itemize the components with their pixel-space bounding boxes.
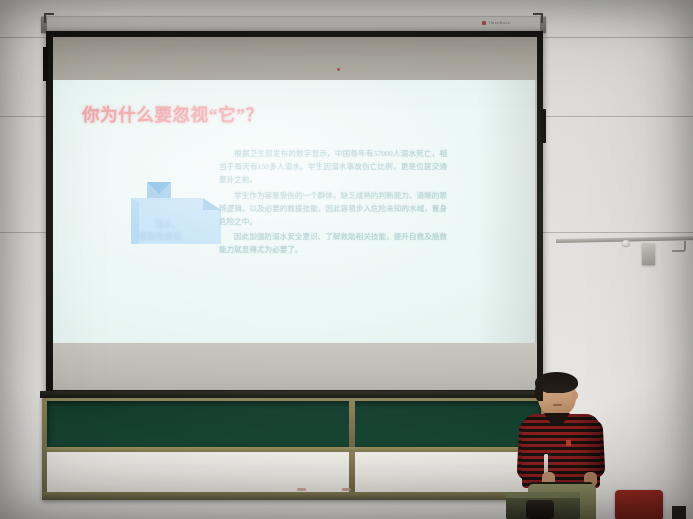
screen-mount-bracket-right xyxy=(533,13,543,23)
chalkboard-surface xyxy=(47,401,541,447)
brand-name-label: ThreeBoss xyxy=(488,20,510,25)
ribbon-line-2: 就在你身边 xyxy=(139,230,219,242)
wall-mount-bracket xyxy=(642,243,655,265)
presenter-eyebrow-left xyxy=(545,388,552,390)
shirt-logo-icon xyxy=(566,440,571,446)
slide-paragraph-3: 因此加强防溺水安全意识、了解救助相关技能，提升自救及施救能力就显得尤为必要了。 xyxy=(219,230,447,256)
slide-paragraph-2: 学生作为容易受伤的一个群体，缺乏成熟的判断能力、清晰的思辨逻辑，以及必要的救援技… xyxy=(219,189,447,229)
chalkboard xyxy=(42,396,546,500)
chalk-piece xyxy=(297,488,306,491)
brand-dot-icon xyxy=(482,21,486,25)
presenter-eyebrow-right xyxy=(559,388,566,390)
wall-hook-icon xyxy=(672,241,686,252)
chalkboard-top-rail xyxy=(40,391,548,398)
screen-tensioner-left xyxy=(43,47,48,81)
slide-paragraph-1: 根据卫生部发布的数字显示，中国每年有57000人溺水死亡，相当于每天有150多人… xyxy=(219,147,447,187)
screen-brand-logo: ThreeBoss xyxy=(482,20,510,25)
red-chair xyxy=(615,490,663,519)
bag-on-lectern xyxy=(526,500,554,519)
classroom-scene: ThreeBoss 你为什么要忽视“它”？ xyxy=(0,0,693,519)
slide-title: 你为什么要忽视“它”？ xyxy=(82,102,264,127)
red-chalk-dot xyxy=(337,68,340,71)
projected-slide[interactable]: 你为什么要忽视“它”？ 溺水， 就在你身边 xyxy=(53,80,535,343)
chalkboard-divider xyxy=(349,401,355,447)
ribbon-line-1: 溺水， xyxy=(139,218,219,230)
ribbon-banner-graphic: 溺水， 就在你身边 xyxy=(125,180,225,256)
ribbon-text: 溺水， 就在你身边 xyxy=(139,218,219,242)
chalkboard-lower-panel xyxy=(47,452,541,492)
dark-object-edge xyxy=(672,506,686,519)
chalkboard-lower-divider xyxy=(349,452,355,492)
screen-mount-bracket-left xyxy=(44,13,54,23)
presenter-hair-side xyxy=(535,382,543,401)
presenter-eye-right xyxy=(560,391,565,393)
unlit-band-bottom xyxy=(53,343,537,390)
slide-body-text: 根据卫生部发布的数字显示，中国每年有57000人溺水死亡，相当于每天有150多人… xyxy=(219,147,447,259)
projector-screen-frame: 你为什么要忽视“它”？ 溺水， 就在你身边 xyxy=(46,31,543,397)
ceiling-sensor-icon xyxy=(622,240,630,246)
screen-tensioner-right xyxy=(541,109,546,143)
presenter-ear xyxy=(572,391,578,400)
projector-screen-fabric: 你为什么要忽视“它”？ 溺水， 就在你身边 xyxy=(53,37,537,390)
lectern-top-surface xyxy=(506,492,580,498)
chalkboard-bottom-rail xyxy=(42,492,546,500)
presenter-eye-left xyxy=(546,391,551,393)
projection-light-falloff xyxy=(477,80,535,343)
chalk-piece xyxy=(342,488,351,491)
presenter-mouth xyxy=(553,404,562,406)
unlit-band-top xyxy=(53,37,537,80)
